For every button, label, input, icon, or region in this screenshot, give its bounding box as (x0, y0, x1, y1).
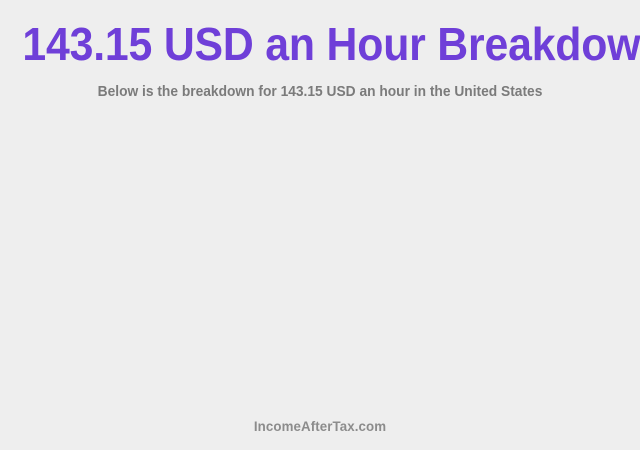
page-footer: IncomeAfterTax.com (0, 418, 640, 450)
breakdown-content-area (0, 100, 640, 418)
page-header: 143.15 USD an Hour Breakdown Below is th… (0, 0, 640, 100)
page-title: 143.15 USD an Hour Breakdown (22, 20, 617, 68)
page-subtitle: Below is the breakdown for 143.15 USD an… (16, 68, 624, 100)
breakdown-page: 143.15 USD an Hour Breakdown Below is th… (0, 0, 640, 450)
site-watermark: IncomeAfterTax.com (16, 418, 624, 434)
